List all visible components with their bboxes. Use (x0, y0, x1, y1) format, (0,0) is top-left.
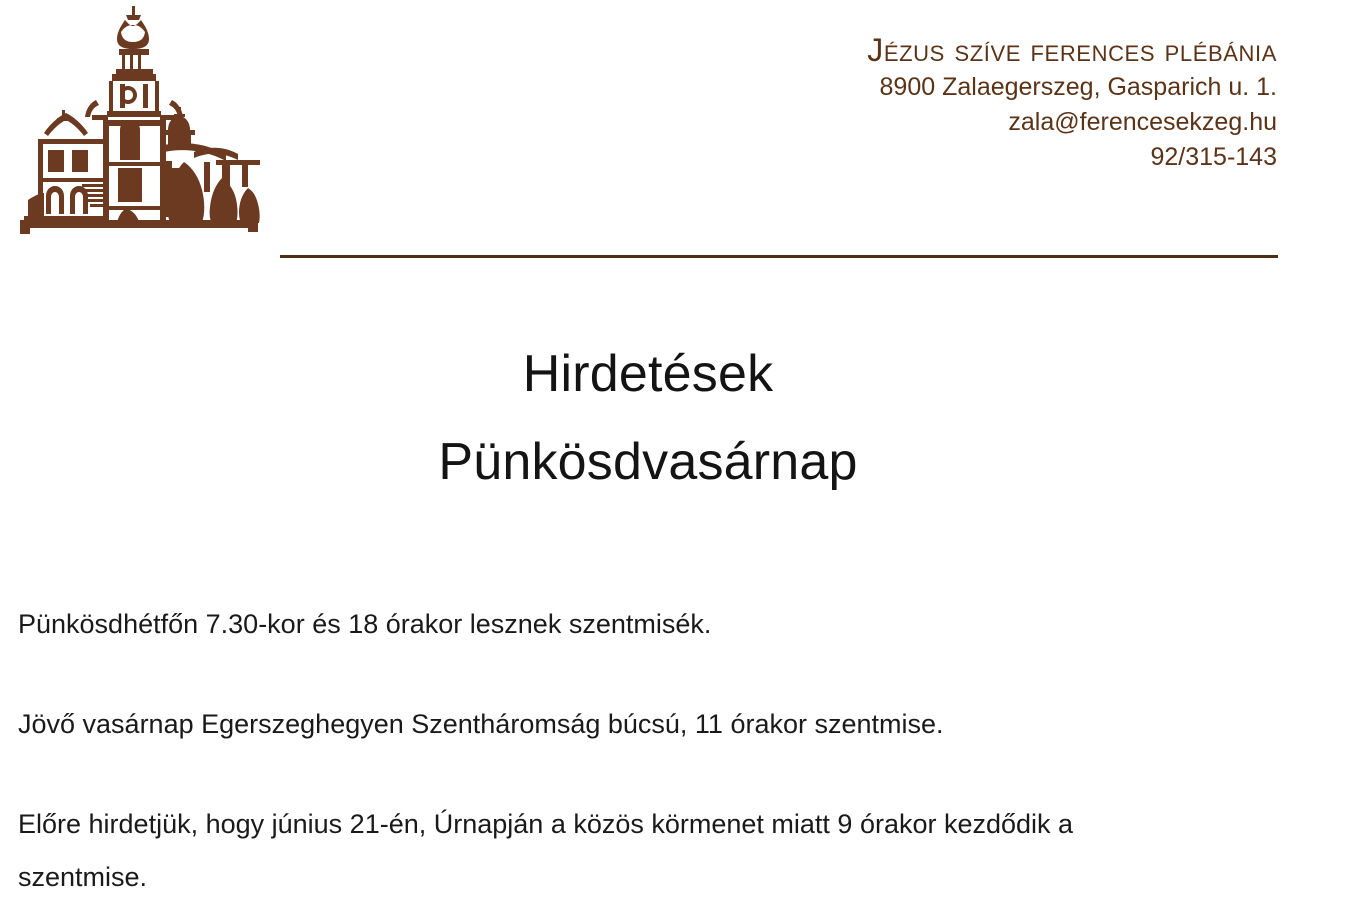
organization-contact-block: Jézus Szíve Ferences Plébánia 8900 Zalae… (577, 30, 1277, 175)
title-line-secondary: Pünkösdvasárnap (0, 418, 1296, 506)
letterhead-divider (280, 255, 1278, 258)
organization-email: zala@ferencesekzeg.hu (577, 105, 1277, 140)
church-building-logo-icon (8, 2, 260, 242)
letterhead: Jézus Szíve Ferences Plébánia 8900 Zalae… (0, 0, 1358, 270)
organization-name: Jézus Szíve Ferences Plébánia (577, 30, 1277, 70)
page-title: Hirdetések Pünkösdvasárnap (0, 330, 1296, 506)
title-line-primary: Hirdetések (0, 330, 1296, 418)
announcement-body: Pünkösdhétfőn 7.30-kor és 18 órakor lesz… (18, 598, 1138, 904)
announcement-paragraph: Jövő vasárnap Egerszeghegyen Szenthároms… (18, 698, 1138, 751)
announcement-paragraph: Pünkösdhétfőn 7.30-kor és 18 órakor lesz… (18, 598, 1138, 651)
organization-address: 8900 Zalaegerszeg, Gasparich u. 1. (577, 70, 1277, 105)
organization-phone: 92/315-143 (577, 140, 1277, 175)
announcement-paragraph: Előre hirdetjük, hogy június 21-én, Úrna… (18, 798, 1138, 904)
document-page: Jézus Szíve Ferences Plébánia 8900 Zalae… (0, 0, 1358, 904)
